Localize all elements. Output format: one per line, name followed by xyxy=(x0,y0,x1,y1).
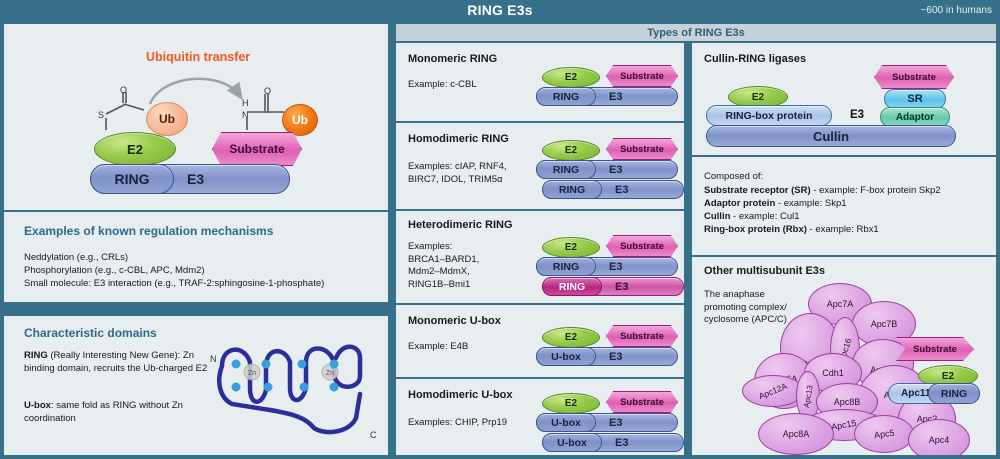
monomeric-ring-substrate: Substrate xyxy=(606,65,678,87)
apc-subunit-label: Apc7A xyxy=(827,299,854,309)
homodimeric-ubox-title: Homodimeric U-box xyxy=(408,389,513,401)
right-column: Cullin-RING ligases Substrate SR Adaptor… xyxy=(692,24,996,455)
crl-ring-box-protein: RING-box protein xyxy=(706,105,832,126)
ring-label: RING xyxy=(115,171,150,187)
heterodimeric-ring-domain-2: RING xyxy=(542,277,602,296)
e2-label: E2 xyxy=(565,398,577,409)
homodimeric-ring-title: Homodimeric RING xyxy=(408,133,509,145)
ubox-label: U-box xyxy=(551,417,581,429)
homodimeric-ubox-domain-2: U-box xyxy=(542,433,602,452)
crl-component-0-desc: - example: F-box protein Skp2 xyxy=(811,185,941,196)
apc-caption: The anaphase promoting complex/ cyclosom… xyxy=(704,289,787,327)
e3-label: E3 xyxy=(615,184,628,196)
middle-column: Monomeric RING Example: c-CBL E2 Substra… xyxy=(396,24,684,455)
e2-label: E2 xyxy=(127,142,143,157)
ring-label: RING xyxy=(559,281,585,293)
apc-subunit-label: Apc7B xyxy=(871,319,898,329)
crl-component-3-desc: - example: Rbx1 xyxy=(807,224,879,235)
homodimeric-ubox-e2: E2 xyxy=(542,393,600,414)
crl-substrate-receptor: SR xyxy=(884,89,946,109)
e2-label: E2 xyxy=(942,371,954,382)
crl-component-2-term: Cullin xyxy=(704,211,730,222)
crl-component-2-desc: - example: Cul1 xyxy=(730,211,799,222)
e3-label: E3 xyxy=(609,417,622,429)
substrate-label: Substrate xyxy=(620,144,664,155)
panel-crl-components: Composed of: Substrate receptor (SR) - e… xyxy=(692,157,996,255)
crl-substrate: Substrate xyxy=(874,65,954,89)
substrate-label: Substrate xyxy=(620,397,664,408)
monomeric-ubox-examples: Example: E4B xyxy=(408,341,468,354)
panel-monomeric-ubox: Monomeric U-box Example: E4B E2 Substrat… xyxy=(396,305,684,377)
ubox-label: U-box xyxy=(551,351,581,363)
e2-label: E2 xyxy=(565,242,577,253)
apc-subunit-label: Apc12A xyxy=(757,381,788,401)
homodimeric-ubox-examples: Examples: CHIP, Prp19 xyxy=(408,417,507,430)
ring-desc: (Really Interesting New Gene): Zn bindin… xyxy=(24,350,207,374)
hydrogen-label: H xyxy=(242,98,249,108)
apc-title: Other multisubunit E3s xyxy=(704,265,825,277)
ringbox-label: RING-box protein xyxy=(726,110,813,122)
c-terminus-label: C xyxy=(370,430,377,440)
monomeric-ubox-e2: E2 xyxy=(542,327,600,348)
e2-label: E2 xyxy=(752,92,764,103)
apc-subunit-apc12a: Apc12A xyxy=(742,375,804,407)
regulation-item-1: Phosphorylation (e.g., c-CBL, APC, Mdm2) xyxy=(24,265,205,278)
panel-homodimeric-ring: Homodimeric RING Examples: cIAP, RNF4, B… xyxy=(396,123,684,209)
adaptor-label: Adaptor xyxy=(896,112,934,123)
monomeric-ubox-title: Monomeric U-box xyxy=(408,315,501,327)
apc-subunit-label: Apc8B xyxy=(834,397,861,407)
ub-amide: Ub xyxy=(282,104,318,136)
e2-label: E2 xyxy=(565,332,577,343)
e3-label: E3 xyxy=(609,261,622,273)
substrate-label: Substrate xyxy=(620,71,664,82)
homodimeric-ring-substrate: Substrate xyxy=(606,138,678,160)
oxygen-right-label: O xyxy=(264,86,271,96)
sulfur-label: S xyxy=(98,110,104,120)
monomeric-ubox-domain: U-box xyxy=(536,347,596,366)
regulation-item-2: Small molecule: E3 interaction (e.g., TR… xyxy=(24,278,324,291)
monomeric-ubox-substrate: Substrate xyxy=(606,325,678,347)
heterodimeric-ring-title: Heterodimeric RING xyxy=(408,219,513,231)
panel-heterodimeric-ring: Heterodimeric RING Examples: BRCA1–BARD1… xyxy=(396,211,684,303)
apc-ring: RING xyxy=(928,383,980,404)
heterodimeric-ring-domain-1: RING xyxy=(536,257,596,276)
left-column: Ubiquitin transfer S O xyxy=(4,24,388,455)
monomeric-ring-title: Monomeric RING xyxy=(408,53,497,65)
crl-component-0: Substrate receptor (SR) - example: F-box… xyxy=(704,185,941,198)
e2-label: E2 xyxy=(565,72,577,83)
crl-component-3: Ring-box protein (Rbx) - example: Rbx1 xyxy=(704,224,879,237)
heterodimeric-ring-substrate: Substrate xyxy=(606,235,678,257)
apc-subunit-apc5: Apc5 xyxy=(854,415,914,453)
e3-label: E3 xyxy=(609,351,622,363)
panel-cullin-ring-ligases: Cullin-RING ligases Substrate SR Adaptor… xyxy=(692,43,996,155)
e2-protein: E2 xyxy=(94,132,176,166)
domains-title: Characteristic domains xyxy=(24,326,157,340)
composed-of-label: Composed of: xyxy=(704,171,763,184)
infographic-page: RING E3s ~600 in humans Types of RING E3… xyxy=(0,0,1000,459)
monomeric-ring-e2: E2 xyxy=(542,67,600,88)
crl-component-0-term: Substrate receptor (SR) xyxy=(704,185,811,196)
ring-label: RING xyxy=(553,261,579,273)
nitrogen-label: N xyxy=(242,110,249,120)
n-terminus-label: N xyxy=(210,354,217,364)
apc-subunit-label: Apc13 xyxy=(802,384,815,408)
regulation-item-0: Neddylation (e.g., CRLs) xyxy=(24,252,128,265)
heterodimeric-ring-examples: Examples: BRCA1–BARD1, Mdm2–MdmX, RING1B… xyxy=(408,241,479,291)
ring-label: RING xyxy=(941,388,967,400)
crl-adaptor: Adaptor xyxy=(880,107,950,127)
crl-component-1-desc: - example: Skp1 xyxy=(775,198,846,209)
heterodimeric-ring-e2: E2 xyxy=(542,237,600,258)
crl-component-3-term: Ring-box protein (Rbx) xyxy=(704,224,807,235)
apc-substrate: Substrate xyxy=(896,337,974,361)
cullin-label: Cullin xyxy=(813,129,849,144)
crl-cullin: Cullin xyxy=(706,125,956,147)
header-count-note: ~600 in humans xyxy=(921,5,992,16)
regulation-title: Examples of known regulation mechanisms xyxy=(24,224,273,238)
apc-subunit-label: Cdh1 xyxy=(822,368,844,378)
e3-label: E3 xyxy=(187,171,204,187)
apc-subunit-label: Apc5 xyxy=(873,428,895,441)
e3-label: E3 xyxy=(609,91,622,103)
crl-component-1-term: Adaptor protein xyxy=(704,198,775,209)
homodimeric-ring-domain-1: RING xyxy=(536,160,596,179)
ub-thioester: Ub xyxy=(146,102,188,136)
homodimeric-ring-examples: Examples: cIAP, RNF4, BIRC7, IDOL, TRIM5… xyxy=(408,161,507,186)
apc11-label: Apc11 xyxy=(901,388,930,399)
apc-subunit-label: Apc8A xyxy=(783,429,810,439)
ub-thioester-label: Ub xyxy=(159,112,175,126)
ring-definition: RING (Really Interesting New Gene): Zn b… xyxy=(24,350,224,375)
ring-label: RING xyxy=(553,91,579,103)
ring-fold-diagram-icon: Zn Zn xyxy=(210,332,380,448)
apc-subunit-apc4: Apc4 xyxy=(908,419,970,455)
substrate-label: Substrate xyxy=(620,241,664,252)
panel-characteristic-domains: Characteristic domains RING (Really Inte… xyxy=(4,316,388,455)
ring-label: RING xyxy=(559,184,585,196)
svg-text:Zn: Zn xyxy=(248,370,256,377)
substrate-label: Substrate xyxy=(892,72,936,83)
substrate-label: Substrate xyxy=(229,142,284,156)
panel-monomeric-ring: Monomeric RING Example: c-CBL E2 Substra… xyxy=(396,43,684,121)
svg-text:Zn: Zn xyxy=(326,370,334,377)
crl-title: Cullin-RING ligases xyxy=(704,53,806,65)
substrate-protein: Substrate xyxy=(212,132,302,166)
ubox-definition: U-box: same fold as RING without Zn coor… xyxy=(24,400,224,425)
apc-subunit-apc8a: Apc8A xyxy=(758,413,834,455)
page-header: RING E3s ~600 in humans xyxy=(0,0,1000,22)
monomeric-ring-examples: Example: c-CBL xyxy=(408,79,477,92)
e2-label: E2 xyxy=(565,145,577,156)
homodimeric-ubox-substrate: Substrate xyxy=(606,391,678,413)
substrate-label: Substrate xyxy=(620,331,664,342)
crl-e3-label: E3 xyxy=(850,109,864,121)
ubiquitin-transfer-title: Ubiquitin transfer xyxy=(146,50,250,64)
panel-ubiquitin-transfer: Ubiquitin transfer S O xyxy=(4,24,388,210)
homodimeric-ring-e2: E2 xyxy=(542,140,600,161)
panel-other-multisubunit-e3s: Other multisubunit E3s The anaphase prom… xyxy=(692,257,996,455)
e3-label: E3 xyxy=(615,437,628,449)
substrate-label: Substrate xyxy=(913,344,957,355)
apc-subunit-label: Apc4 xyxy=(929,435,950,445)
crl-component-1: Adaptor protein - example: Skp1 xyxy=(704,198,847,211)
e3-label: E3 xyxy=(609,164,622,176)
ubox-label: U-box xyxy=(557,437,587,449)
panel-homodimeric-ubox: Homodimeric U-box Examples: CHIP, Prp19 … xyxy=(396,379,684,455)
oxygen-left-label: O xyxy=(120,85,127,95)
ub-amide-label: Ub xyxy=(292,113,308,127)
ring-label: RING xyxy=(553,164,579,176)
ubox-term: U-box xyxy=(24,400,51,411)
panel-regulation-mechanisms: Examples of known regulation mechanisms … xyxy=(4,212,388,302)
homodimeric-ring-domain-2: RING xyxy=(542,180,602,199)
homodimeric-ubox-domain-1: U-box xyxy=(536,413,596,432)
ring-domain: RING xyxy=(90,164,174,194)
e3-label: E3 xyxy=(615,281,628,293)
page-title: RING E3s xyxy=(0,2,1000,18)
ring-term: RING xyxy=(24,350,48,361)
sr-label: SR xyxy=(907,93,922,105)
crl-component-2: Cullin - example: Cul1 xyxy=(704,211,800,224)
monomeric-ring-domain: RING xyxy=(536,87,596,106)
